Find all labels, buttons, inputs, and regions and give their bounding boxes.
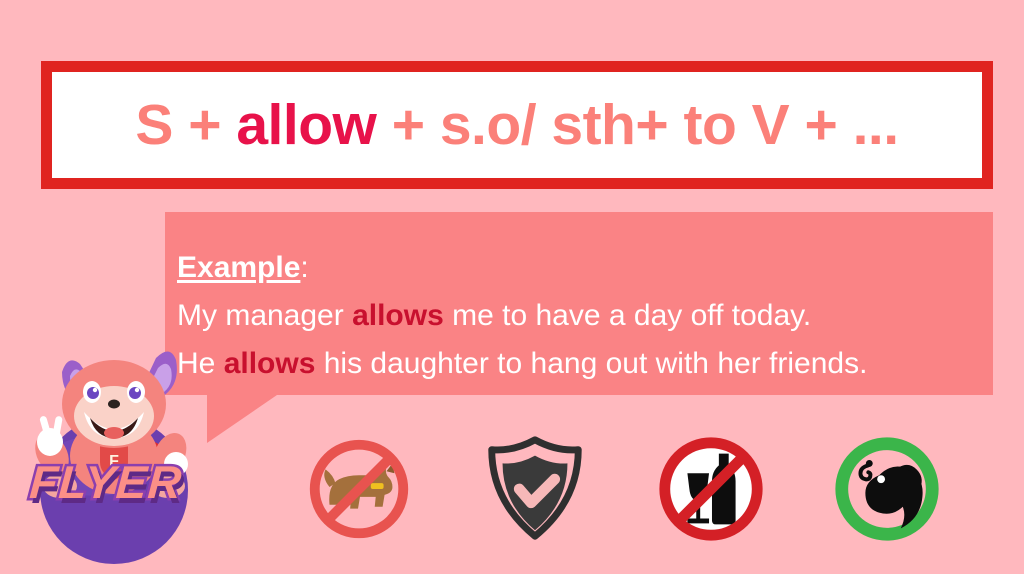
formula-part-object: + s.o/ sth+ to V + ... bbox=[376, 93, 898, 157]
sentence-1-pre: My manager bbox=[177, 299, 352, 332]
flyer-fox-mascot: F bbox=[18, 338, 210, 570]
pictogram-row bbox=[300, 427, 950, 551]
mascot-eye-glint-left bbox=[93, 388, 97, 392]
flyer-wordmark: FLYER bbox=[14, 455, 198, 509]
sentence-2-keyword: allows bbox=[224, 347, 316, 380]
mascot-pupil-right bbox=[129, 387, 141, 399]
example-sentence-1: My manager allows me to have a day off t… bbox=[177, 292, 993, 340]
example-label-colon: : bbox=[300, 251, 308, 284]
grammar-formula: S + allow + s.o/ sth+ to V + ... bbox=[135, 97, 898, 154]
sentence-1-post: me to have a day off today. bbox=[444, 299, 811, 332]
mascot-pupil-left bbox=[87, 387, 99, 399]
fish-hook-glyph bbox=[860, 460, 922, 528]
mascot-tongue bbox=[104, 427, 124, 439]
mascot-eye-glint-right bbox=[135, 388, 139, 392]
formula-part-verb: allow bbox=[236, 93, 376, 157]
formula-banner: S + allow + s.o/ sth+ to V + ... bbox=[41, 61, 993, 189]
fishing-allowed-icon bbox=[828, 430, 946, 548]
formula-part-subject: S + bbox=[135, 93, 236, 157]
example-heading: Example: bbox=[177, 244, 993, 292]
example-speech-bubble: Example: My manager allows me to have a … bbox=[165, 212, 993, 395]
sentence-2-post: his daughter to hang out with her friend… bbox=[315, 347, 867, 380]
example-label: Example bbox=[177, 251, 300, 284]
no-dogs-icon bbox=[300, 430, 418, 548]
example-sentence-2: He allows his daughter to hang out with … bbox=[177, 340, 993, 388]
mascot-nose bbox=[108, 400, 120, 409]
speech-bubble-tail bbox=[207, 395, 277, 443]
formula-banner-inner: S + allow + s.o/ sth+ to V + ... bbox=[52, 72, 982, 178]
sentence-1-keyword: allows bbox=[352, 299, 444, 332]
no-alcohol-icon bbox=[652, 430, 770, 548]
shield-check-icon bbox=[476, 430, 594, 548]
